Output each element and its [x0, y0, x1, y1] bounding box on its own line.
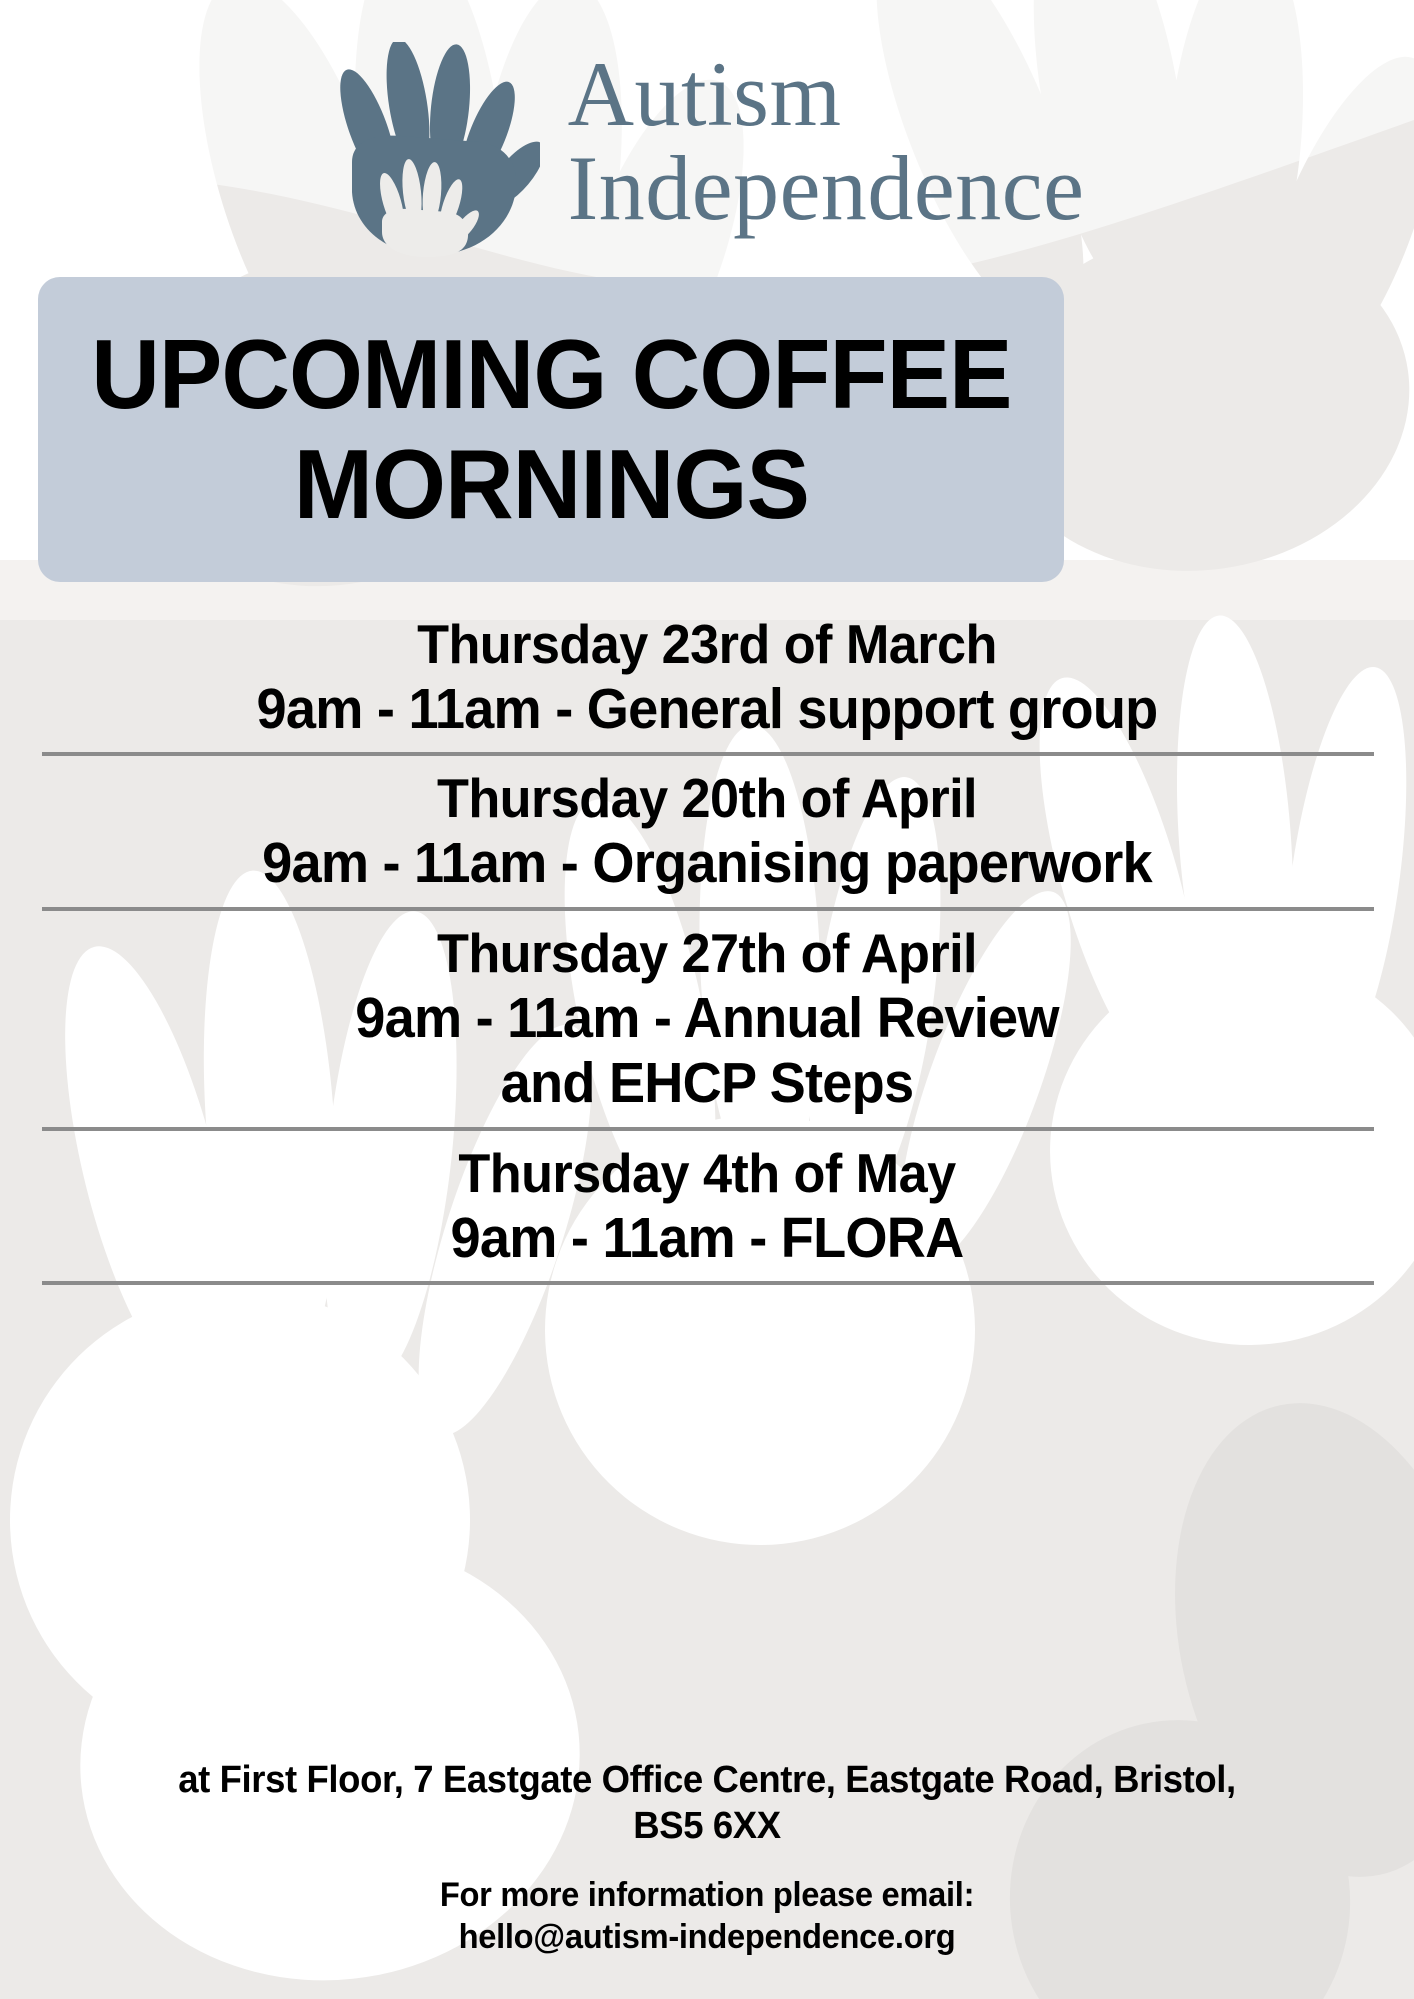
event-date: Thursday 27th of April: [35, 921, 1378, 986]
event-item: Thursday 4th of May 9am - 11am - FLORA: [0, 1141, 1414, 1271]
two-hands-icon: [330, 42, 540, 257]
event-item: Thursday 20th of April 9am - 11am - Orga…: [0, 766, 1414, 896]
organisation-wordmark: Autism Independence: [568, 48, 1085, 236]
event-divider: [42, 1127, 1374, 1131]
event-divider: [42, 907, 1374, 911]
event-item: Thursday 23rd of March 9am - 11am - Gene…: [0, 612, 1414, 742]
title-banner: UPCOMING COFFEE MORNINGS: [38, 277, 1064, 582]
event-date: Thursday 20th of April: [35, 766, 1378, 831]
page-title: UPCOMING COFFEE MORNINGS: [75, 320, 1026, 540]
event-divider: [42, 752, 1374, 756]
footer: at First Floor, 7 Eastgate Office Centre…: [0, 1758, 1414, 1958]
contact-info: For more information please email: hello…: [28, 1875, 1385, 1958]
events-list: Thursday 23rd of March 9am - 11am - Gene…: [0, 612, 1414, 1295]
event-detail: 9am - 11am - Organising paperwork: [35, 831, 1378, 897]
brand-header: Autism Independence: [0, 22, 1414, 262]
poster-page: Autism Independence UPCOMING COFFEE MORN…: [0, 0, 1414, 1999]
event-item: Thursday 27th of April 9am - 11am - Annu…: [0, 921, 1414, 1117]
event-divider: [42, 1281, 1374, 1285]
event-date: Thursday 23rd of March: [35, 612, 1378, 677]
event-detail: 9am - 11am - FLORA: [35, 1206, 1378, 1272]
event-date: Thursday 4th of May: [35, 1141, 1378, 1206]
venue-address: at First Floor, 7 Eastgate Office Centre…: [28, 1758, 1385, 1849]
event-detail: 9am - 11am - General support group: [35, 677, 1378, 743]
event-detail: 9am - 11am - Annual Review and EHCP Step…: [35, 986, 1378, 1117]
